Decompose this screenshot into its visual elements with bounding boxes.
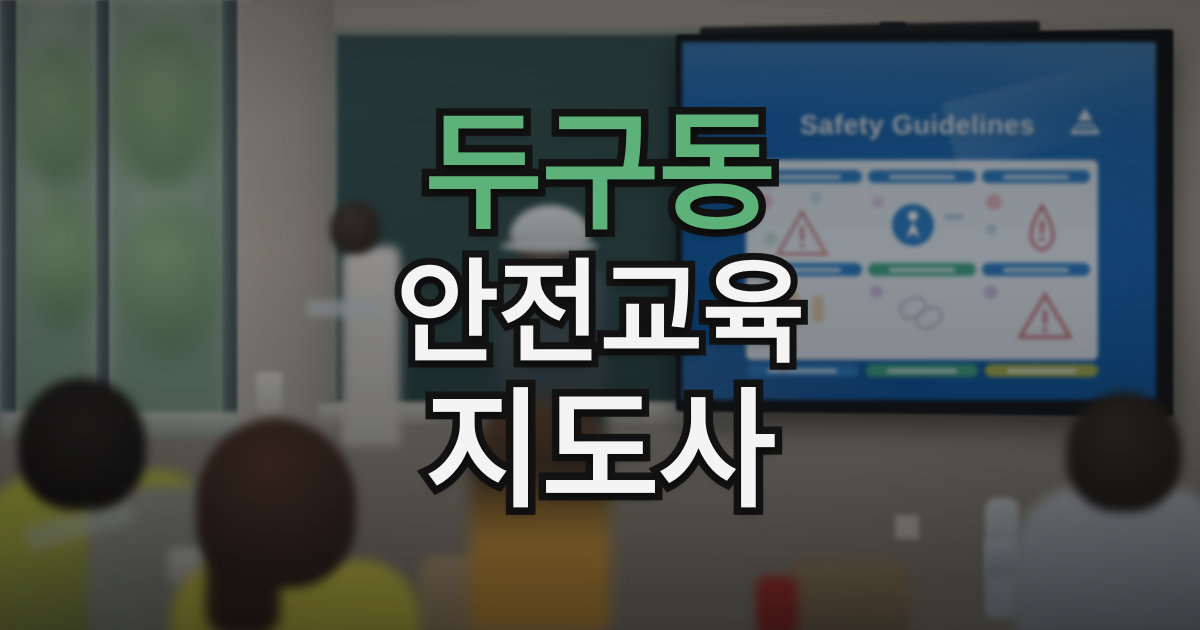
overlay-title: 두구동 안전교육 지도사	[0, 0, 1200, 630]
title-line-3: 지도사	[425, 388, 775, 516]
thumbnail-card: Safety Guidelines	[0, 0, 1200, 630]
title-line-2: 안전교육	[396, 258, 804, 370]
title-line-1: 두구동	[425, 110, 775, 238]
